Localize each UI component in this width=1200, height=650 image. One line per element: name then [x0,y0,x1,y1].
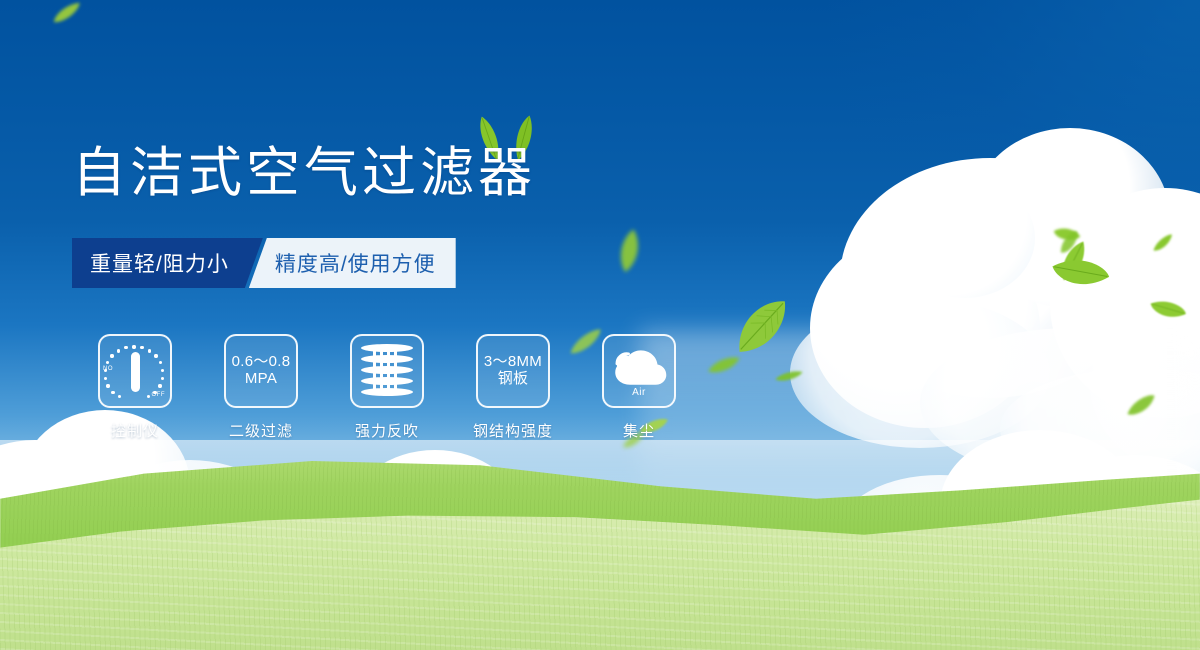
feature-label: 强力反吹 [355,420,419,441]
feature-item-dust-collection[interactable]: Air 集尘 [576,334,702,441]
pressure-unit: MPA [232,371,291,388]
feature-icon-box: 0.6～0.8 MPA [224,334,298,408]
feature-label: 控制仪 [111,420,159,441]
badge-primary-label: 重量轻/阻力小 [90,248,229,278]
tagline-badges: 重量轻/阻力小 精度高/使用方便 [72,238,456,288]
pressure-text-icon: 0.6～0.8 MPA [232,354,291,388]
feature-icon-box [350,334,424,408]
feature-icon-box: NO OFF [98,334,172,408]
gauge-icon: NO OFF [102,340,168,402]
feature-item-controller[interactable]: NO OFF 控制仪 [72,334,198,441]
feature-item-steel-strength[interactable]: 3～8MM 钢板 钢结构强度 [450,334,576,441]
feature-icon-box: 3～8MM 钢板 [476,334,550,408]
cloud-air-icon: Air [610,346,668,396]
gauge-off-label: OFF [152,392,166,398]
page-title: 自洁式空气过滤器 [72,146,536,200]
feature-icon-box: Air [602,334,676,408]
badge-weight-resistance: 重量轻/阻力小 [72,238,263,288]
feature-label: 钢结构强度 [473,420,553,441]
badge-secondary-label: 精度高/使用方便 [275,248,436,278]
pressure-value: 0.6～0.8 [232,353,291,370]
feature-label: 二级过滤 [229,420,293,441]
steel-material: 钢板 [484,371,542,388]
steel-thickness: 3～8MM [484,353,542,370]
feature-item-two-stage-filter[interactable]: 0.6～0.8 MPA 二级过滤 [198,334,324,441]
gauge-no-label: NO [103,366,113,372]
feature-label: 集尘 [623,420,655,441]
steel-plate-text-icon: 3～8MM 钢板 [484,354,542,388]
air-label: Air [610,387,668,398]
hero-banner: 自洁式空气过滤器 重量轻/阻力小 精度高/使用方便 [0,0,1200,650]
feature-list: NO OFF 控制仪 0.6～0.8 MPA 二级过滤 [72,334,702,441]
feature-item-reverse-blow[interactable]: 强力反吹 [324,334,450,441]
badge-precision-convenience: 精度高/使用方便 [249,238,456,288]
filter-stack-icon [361,344,413,398]
